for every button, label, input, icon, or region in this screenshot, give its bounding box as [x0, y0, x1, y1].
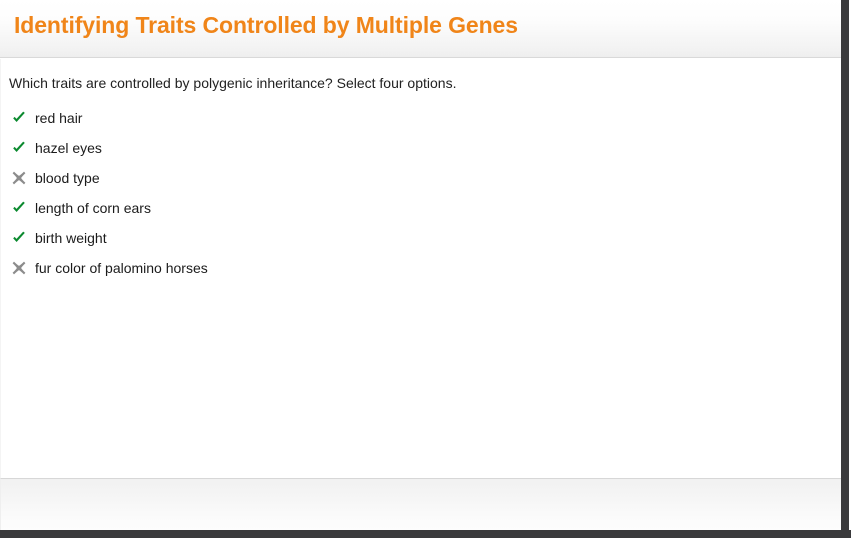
cross-icon — [11, 260, 27, 276]
question-text: Which traits are controlled by polygenic… — [9, 74, 456, 92]
check-icon — [11, 110, 27, 126]
option-label: hazel eyes — [35, 139, 102, 157]
content-area: Which traits are controlled by polygenic… — [0, 59, 841, 478]
option-row[interactable]: red hair — [1, 103, 841, 133]
check-icon — [11, 140, 27, 156]
option-label: fur color of palomino horses — [35, 259, 208, 277]
option-label: red hair — [35, 109, 82, 127]
option-row[interactable]: fur color of palomino horses — [1, 253, 841, 283]
footer-panel — [0, 478, 841, 530]
document-area: Identifying Traits Controlled by Multipl… — [0, 0, 841, 538]
option-row[interactable]: birth weight — [1, 223, 841, 253]
page-title: Identifying Traits Controlled by Multipl… — [14, 12, 518, 39]
option-label: birth weight — [35, 229, 107, 247]
option-label: blood type — [35, 169, 100, 187]
options-list: red hairhazel eyesblood typelength of co… — [1, 103, 841, 283]
option-row[interactable]: hazel eyes — [1, 133, 841, 163]
option-row[interactable]: length of corn ears — [1, 193, 841, 223]
check-icon — [11, 200, 27, 216]
cross-icon — [11, 170, 27, 186]
vertical-scrollbar[interactable] — [841, 0, 849, 538]
page-header: Identifying Traits Controlled by Multipl… — [0, 0, 841, 58]
page-root: Identifying Traits Controlled by Multipl… — [0, 0, 851, 538]
window-bottom-bar — [0, 530, 851, 538]
option-row[interactable]: blood type — [1, 163, 841, 193]
check-icon — [11, 230, 27, 246]
option-label: length of corn ears — [35, 199, 151, 217]
